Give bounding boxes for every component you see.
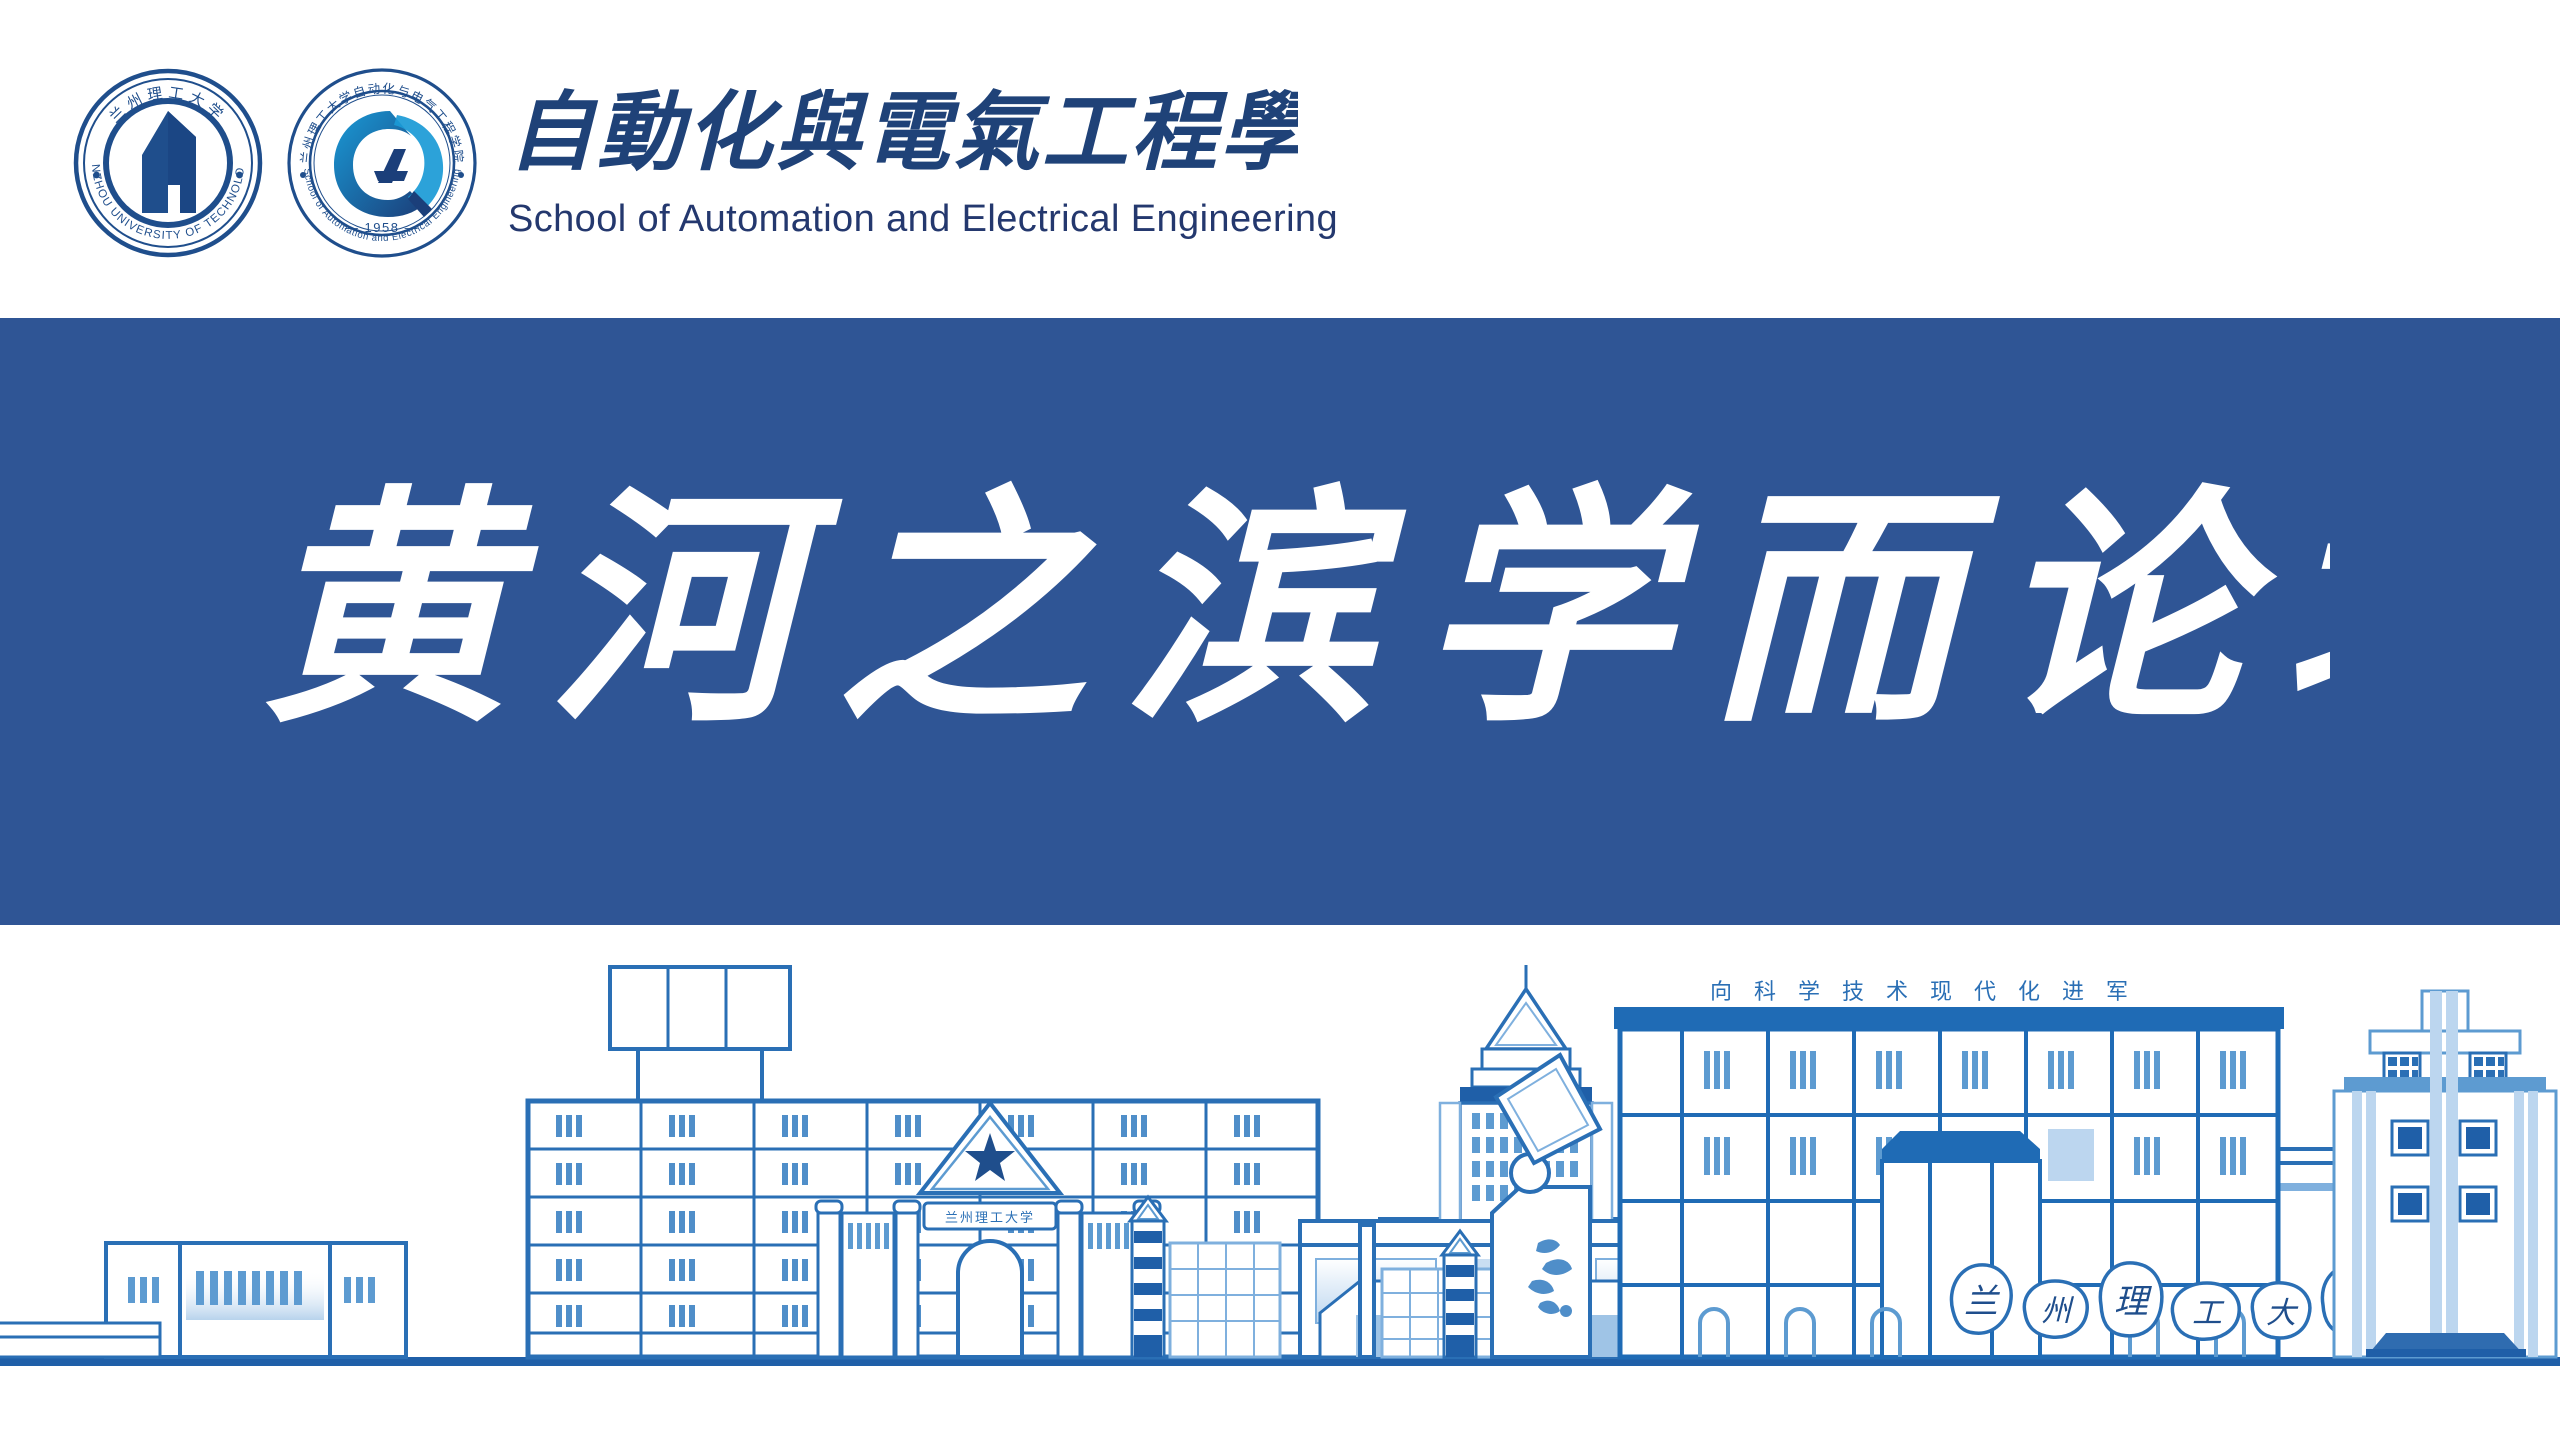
campus-skyline-illustration: 兰州理工大学 — [0, 925, 2560, 1440]
stone-seal-char-3: 理 — [2100, 1263, 2162, 1336]
page-header: 兰州理工大学 LANZHOU UNIVERSITY OF TECHNOLOGY — [0, 0, 2560, 318]
header-logo-row: 兰州理工大学 LANZHOU UNIVERSITY OF TECHNOLOGY — [68, 63, 1338, 263]
school-name-english: School of Automation and Electrical Engi… — [508, 198, 1338, 241]
svg-text:理: 理 — [2114, 1282, 2152, 1322]
building-mid-small — [1170, 1243, 1280, 1357]
stone-seal-char-4: 工 — [2172, 1283, 2239, 1339]
school-name-block: 自動化與電氣工程學院 School of Automation and Elec… — [508, 82, 1338, 241]
svg-text:州: 州 — [2041, 1294, 2075, 1329]
obelisk-tower — [1130, 1197, 1166, 1357]
svg-text:向科学技术现代化进军: 向科学技术现代化进军 — [1710, 980, 2150, 1005]
banner-title-part-2: 学而论坛 — [1420, 472, 2330, 756]
main-banner: 黄河之滨 学而论坛 — [0, 318, 2560, 925]
campus-gate — [0, 1323, 160, 1357]
campus-skyline: 兰州理工大学 — [0, 925, 2560, 1440]
stone-seal-char-1: 兰 — [1951, 1265, 2011, 1333]
school-seal-icon: — 1958 — 兰州理工大学自动化与电气工程学院 School of Auto… — [282, 63, 482, 263]
svg-text:兰: 兰 — [1964, 1282, 2001, 1322]
administration-building — [2334, 991, 2556, 1357]
obelisk-right — [1442, 1231, 1478, 1357]
campus-sculpture — [1492, 1055, 1600, 1357]
banner-title: 黄河之滨 学而论坛 — [230, 472, 2330, 772]
gate-plaque-text: 兰州理工大学 — [945, 1210, 1035, 1226]
stone-seal-char-5: 大 — [2252, 1283, 2310, 1338]
university-seal-icon: 兰州理工大学 LANZHOU UNIVERSITY OF TECHNOLOGY — [68, 63, 268, 263]
svg-text:自動化與電氣工程學院: 自動化與電氣工程學院 — [508, 83, 1298, 183]
banner-title-part-1: 黄河之滨 — [260, 472, 1412, 756]
svg-text:大: 大 — [2266, 1296, 2299, 1331]
rooftop-slogan: 向科学技术现代化进军 — [1710, 980, 2150, 1005]
banner-title-wrap: 黄河之滨 学而论坛 — [0, 318, 2560, 925]
school-name-chinese: 自動化與電氣工程學院 — [508, 82, 1298, 186]
stone-seal-char-2: 州 — [2024, 1281, 2087, 1337]
svg-text:工: 工 — [2192, 1296, 2225, 1331]
